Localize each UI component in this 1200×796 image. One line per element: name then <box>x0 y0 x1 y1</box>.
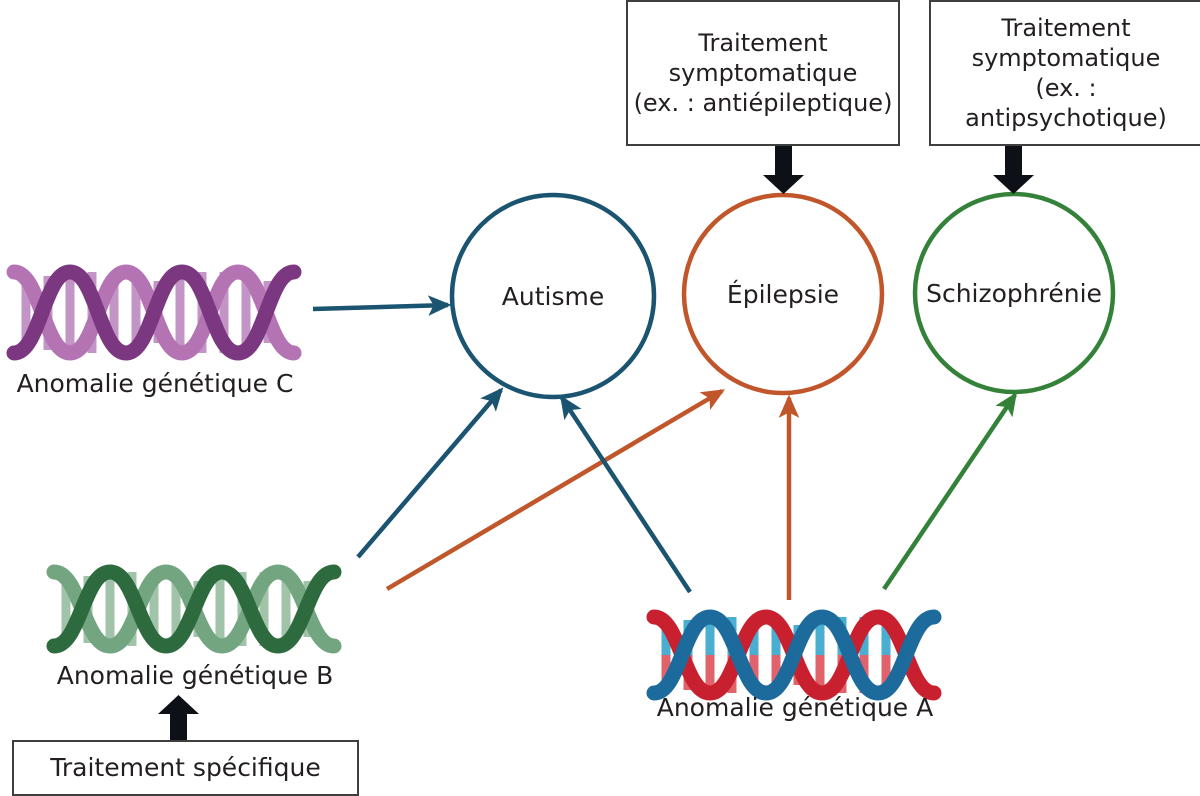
circle-schizophrenie <box>915 194 1113 392</box>
arrow-epilepsy-treatment <box>763 146 804 194</box>
treatment-epilepsy-line-2: symptomatique <box>669 58 858 88</box>
treatment-psychosis-line-1: Traitement <box>1001 13 1130 43</box>
treatment-psychosis-line-3: (ex. : antipsychotique) <box>931 73 1200 133</box>
connector-c-to-autisme <box>313 305 448 309</box>
caption-anomalie-a-text: Anomalie génétique A <box>657 693 934 722</box>
caption-anomalie-b: Anomalie génétique B <box>35 661 355 690</box>
caption-anomalie-b-text: Anomalie génétique B <box>57 661 334 690</box>
treatment-specific-line-1: Traitement spécifique <box>50 752 320 783</box>
treatment-box-psychosis-label: Traitement symptomatique (ex. : antipsyc… <box>931 2 1200 144</box>
dna-helix-c <box>14 272 294 353</box>
connector-b-to-epilepsie <box>387 391 722 589</box>
connector-a-to-schizophrenie <box>884 395 1015 589</box>
arrow-psychosis-treatment <box>993 146 1034 194</box>
treatment-box-specific[interactable]: Traitement spécifique <box>12 740 359 796</box>
circle-autisme <box>452 195 654 397</box>
caption-anomalie-c-text: Anomalie génétique C <box>17 369 294 398</box>
treatment-box-psychosis[interactable]: Traitement symptomatique (ex. : antipsyc… <box>929 0 1200 146</box>
dna-helix-a <box>654 617 934 693</box>
treatment-epilepsy-line-3: (ex. : antiépileptique) <box>634 88 893 118</box>
caption-anomalie-c: Anomalie génétique C <box>0 369 310 398</box>
arrow-specific-treatment <box>158 695 199 742</box>
connector-a-to-autisme <box>562 398 690 592</box>
treatment-box-specific-label: Traitement spécifique <box>14 742 357 794</box>
treatment-box-epilepsy[interactable]: Traitement symptomatique (ex. : antiépil… <box>626 0 900 146</box>
treatment-epilepsy-line-1: Traitement <box>698 28 827 58</box>
caption-anomalie-a: Anomalie génétique A <box>640 693 950 722</box>
circle-epilepsie <box>684 195 882 393</box>
treatment-psychosis-line-2: symptomatique <box>972 43 1161 73</box>
diagram-canvas: Traitement symptomatique (ex. : antiépil… <box>0 0 1200 796</box>
dna-helix-b <box>54 572 334 646</box>
treatment-box-epilepsy-label: Traitement symptomatique (ex. : antiépil… <box>628 2 898 144</box>
